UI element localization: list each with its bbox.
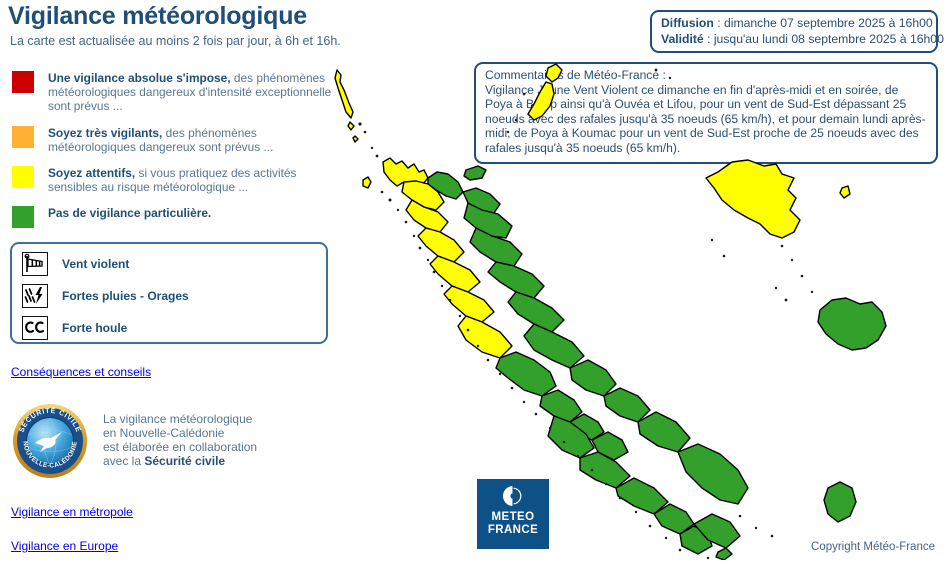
map-zone-ouvea — [528, 64, 562, 120]
bulletin-info-box: Diffusion : dimanche 07 septembre 2025 à… — [650, 10, 938, 53]
secciv-line-4-prefix: avec la — [103, 454, 144, 468]
rain-thunderstorm-icon — [22, 284, 48, 308]
securite-civile-text: La vigilance météorologique en Nouvelle-… — [103, 412, 257, 468]
legend-bold-green: Pas de vigilance particulière. — [48, 206, 211, 220]
phenomenon-label-rain: Fortes pluies - Orages — [62, 289, 189, 303]
link-vigilance-europe[interactable]: Vigilance en Europe — [11, 539, 118, 553]
page-title: Vigilance météorologique — [8, 2, 307, 31]
map-zone-poya — [458, 316, 512, 358]
phenomena-legend-box: Vent violent Fortes pluies - Orages Fort… — [10, 242, 328, 344]
secciv-line-4: avec la Sécurité civile — [103, 454, 257, 468]
vigilance-color-legend: Une vigilance absolue s'impose, des phén… — [12, 70, 332, 239]
swatch-green — [12, 206, 34, 228]
validity-value: : jusqu'au lundi 08 septembre 2025 à 16h… — [704, 32, 944, 46]
page-subtitle: La carte est actualisée au moins 2 fois … — [10, 34, 341, 48]
vigilance-map[interactable] — [320, 60, 950, 560]
map-zone-thio — [638, 412, 690, 452]
secciv-line-3: est élaborée en collaboration — [103, 440, 257, 454]
map-zone-canala — [604, 388, 650, 422]
swatch-yellow — [12, 166, 34, 188]
phenomenon-row-swell: Forte houle — [22, 316, 326, 340]
legend-bold-yellow: Soyez attentifs, — [48, 166, 135, 180]
phenomenon-label-wind: Vent violent — [62, 257, 129, 271]
legend-bold-orange: Soyez très vigilants, — [48, 126, 162, 140]
swatch-red — [12, 71, 34, 93]
link-consequences-et-conseils[interactable]: Conséquences et conseils — [11, 365, 151, 379]
legend-text-orange: Soyez très vigilants, des phénomènes mét… — [48, 125, 332, 154]
map-zone-moindou — [540, 390, 582, 422]
map-zone-mare — [818, 298, 886, 350]
map-islet-south-1 — [716, 548, 732, 560]
map-zone-kouaoua — [570, 360, 616, 396]
securite-civile-logo: SÉCURITÉ CIVILE NOUVELLE-CALÉDONIE — [11, 402, 89, 480]
legend-text-green: Pas de vigilance particulière. — [48, 205, 211, 220]
legend-row-orange: Soyez très vigilants, des phénomènes mét… — [12, 125, 332, 154]
legend-text-red: Une vigilance absolue s'impose, des phén… — [48, 70, 332, 114]
secciv-line-4-bold: Sécurité civile — [144, 454, 225, 468]
swatch-orange — [12, 126, 34, 148]
phenomenon-label-swell: Forte houle — [62, 321, 127, 335]
high-swell-icon — [22, 316, 48, 340]
legend-row-yellow: Soyez attentifs, si vous pratiquez des a… — [12, 165, 332, 194]
map-zone-belep — [335, 70, 358, 142]
legend-bold-red: Une vigilance absolue s'impose, — [48, 71, 231, 85]
validity-label: Validité — [661, 32, 704, 46]
map-islet-yam — [363, 177, 371, 188]
diffusion-value: : dimanche 07 septembre 2025 à 16h00 — [714, 16, 933, 30]
map-zone-lifou — [706, 160, 800, 238]
validity-line: Validité : jusqu'au lundi 08 septembre 2… — [661, 31, 928, 47]
map-islet-north-green — [464, 166, 486, 180]
diffusion-label: Diffusion — [661, 16, 714, 30]
map-zone-bourail — [496, 352, 556, 396]
legend-row-green: Pas de vigilance particulière. — [12, 205, 332, 228]
secciv-line-2: en Nouvelle-Calédonie — [103, 426, 257, 440]
legend-text-yellow: Soyez attentifs, si vous pratiquez des a… — [48, 165, 332, 194]
windsock-icon — [22, 252, 48, 276]
phenomenon-row-rain: Fortes pluies - Orages — [22, 284, 326, 308]
link-vigilance-metropole[interactable]: Vigilance en métropole — [11, 505, 133, 519]
map-zone-boulouparis — [580, 452, 630, 488]
map-zone-ile-des-pins — [824, 482, 856, 522]
legend-row-red: Une vigilance absolue s'impose, des phén… — [12, 70, 332, 114]
secciv-line-1: La vigilance météorologique — [103, 412, 257, 426]
map-zone-paita — [616, 478, 668, 514]
phenomenon-row-wind: Vent violent — [22, 252, 326, 276]
map-zone-tiga — [840, 186, 850, 198]
diffusion-line: Diffusion : dimanche 07 septembre 2025 à… — [661, 15, 928, 31]
map-zone-yate — [678, 444, 748, 504]
